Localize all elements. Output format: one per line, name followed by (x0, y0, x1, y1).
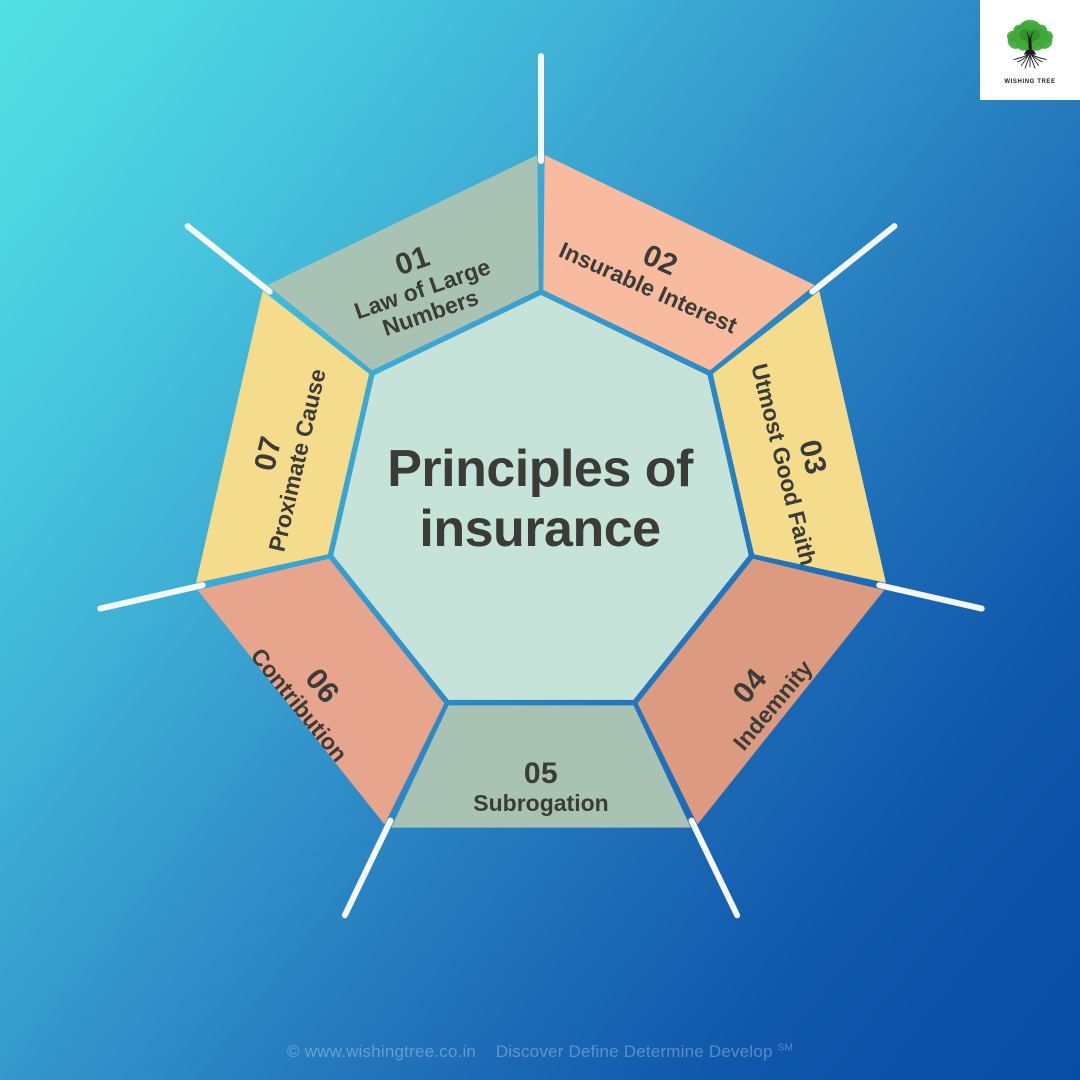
page-title: Principles of insurance (330, 440, 750, 560)
footer-spacer (481, 1042, 491, 1061)
divider-spoke-5 (345, 821, 391, 916)
divider-spoke-6 (100, 585, 202, 608)
tree-icon (999, 16, 1061, 78)
footer-copyright: © www.wishingtree.co.in (287, 1042, 476, 1061)
footer-credit: © www.wishingtree.co.in Discover Define … (0, 1042, 1080, 1062)
divider-spoke-3 (879, 585, 981, 608)
divider-spoke-4 (692, 821, 738, 916)
page-title-line-1: Principles of (330, 440, 750, 500)
footer-tagline: Discover Define Determine Develop (496, 1042, 773, 1061)
logo-caption: WISHING TREE (1004, 79, 1055, 85)
divider-spoke-2 (812, 226, 894, 291)
page-title-line-2: insurance (330, 500, 750, 560)
brand-logo[interactable]: WISHING TREE (980, 0, 1080, 100)
divider-spoke-7 (188, 226, 270, 291)
footer-service-mark: SM (778, 1042, 793, 1053)
segment-04[interactable] (391, 705, 691, 827)
infographic-canvas: 01Law of Large Numbers02Insurable Intere… (0, 0, 1080, 1080)
